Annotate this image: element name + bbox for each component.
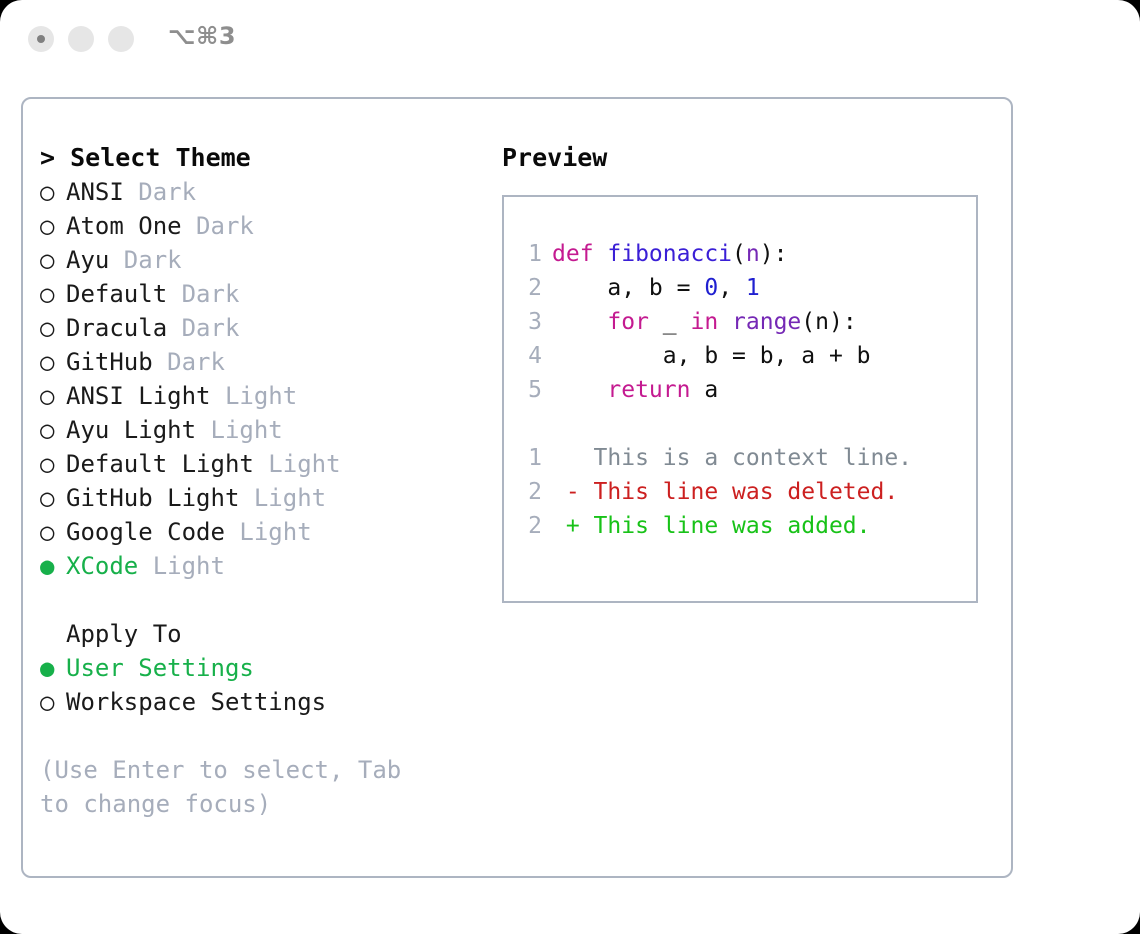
code-token: range xyxy=(732,309,801,335)
code-token: fibonacci xyxy=(607,241,732,267)
theme-option-dracula[interactable]: ○Dracula Dark xyxy=(40,311,480,345)
panel-columns: > Select Theme ○ANSI Dark○Atom One Dark○… xyxy=(23,99,1011,876)
theme-option-label: Default xyxy=(66,280,182,308)
code-token: (n): xyxy=(801,309,856,335)
radio-unselected-icon[interactable]: ○ xyxy=(40,379,66,413)
theme-option-default-light[interactable]: ○Default Light Light xyxy=(40,447,480,481)
code-token: a, b = b, a + b xyxy=(552,343,871,369)
theme-option-label: ANSI Light xyxy=(66,382,225,410)
theme-option-kind: Dark xyxy=(182,280,240,308)
radio-unselected-icon[interactable]: ○ xyxy=(40,209,66,243)
line-number: 1 xyxy=(516,441,542,475)
theme-option-github[interactable]: ○GitHub Dark xyxy=(40,345,480,379)
line-number: 5 xyxy=(516,373,542,407)
app-window: ⌥⌘3 > Select Theme ○ANSI Dark○Atom One D… xyxy=(0,0,1140,934)
theme-option-ayu-light[interactable]: ○Ayu Light Light xyxy=(40,413,480,447)
radio-unselected-icon[interactable]: ○ xyxy=(40,515,66,549)
code-token: 1 xyxy=(746,275,760,301)
code-token: return xyxy=(607,377,690,403)
theme-option-kind: Dark xyxy=(138,178,196,206)
traffic-light-3[interactable] xyxy=(108,26,134,52)
code-token: ): xyxy=(760,241,788,267)
theme-selector-column: > Select Theme ○ANSI Dark○Atom One Dark○… xyxy=(40,141,480,821)
code-line: 2 a, b = 0, 1 xyxy=(516,271,970,305)
theme-option-label: ANSI xyxy=(66,178,138,206)
diff-line-text: + This line was added. xyxy=(552,513,871,539)
code-token: _ xyxy=(649,309,691,335)
code-token xyxy=(718,309,732,335)
line-number: 4 xyxy=(516,339,542,373)
radio-selected-icon[interactable]: ● xyxy=(40,651,66,685)
theme-option-ansi[interactable]: ○ANSI Dark xyxy=(40,175,480,209)
select-theme-heading: > Select Theme xyxy=(40,141,480,175)
theme-option-label: XCode xyxy=(66,552,153,580)
preview-box: 1def fibonacci(n):2 a, b = 0, 13 for _ i… xyxy=(502,195,978,603)
code-token: a xyxy=(690,377,718,403)
radio-unselected-icon[interactable]: ○ xyxy=(40,243,66,277)
line-number: 2 xyxy=(516,509,542,543)
theme-option-kind: Dark xyxy=(167,348,225,376)
theme-option-label: Ayu xyxy=(66,246,124,274)
line-number: 2 xyxy=(516,475,542,509)
diff-line: 1 This is a context line. xyxy=(516,441,970,475)
theme-option-label: Ayu Light xyxy=(66,416,211,444)
apply-to-heading: Apply To xyxy=(40,617,480,651)
preview-heading: Preview xyxy=(502,141,1002,175)
code-sample: 1def fibonacci(n):2 a, b = 0, 13 for _ i… xyxy=(516,237,970,407)
theme-option-kind: Light xyxy=(239,518,311,546)
traffic-light-buttons xyxy=(28,26,134,52)
apply-to-option-label: User Settings xyxy=(66,654,254,682)
code-token: for xyxy=(607,309,649,335)
code-line: 1def fibonacci(n): xyxy=(516,237,970,271)
theme-option-xcode[interactable]: ●XCode Light xyxy=(40,549,480,583)
diff-line: 2 + This line was added. xyxy=(516,509,970,543)
radio-unselected-icon[interactable]: ○ xyxy=(40,413,66,447)
radio-unselected-icon[interactable]: ○ xyxy=(40,277,66,311)
traffic-light-1[interactable] xyxy=(28,26,54,52)
apply-to-option-label: Workspace Settings xyxy=(66,688,326,716)
theme-option-kind: Light xyxy=(225,382,297,410)
theme-option-label: Dracula xyxy=(66,314,182,342)
radio-unselected-icon[interactable]: ○ xyxy=(40,447,66,481)
theme-option-default[interactable]: ○Default Dark xyxy=(40,277,480,311)
line-number: 1 xyxy=(516,237,542,271)
code-token: , xyxy=(718,275,746,301)
line-number: 2 xyxy=(516,271,542,305)
keyboard-shortcut-label: ⌥⌘3 xyxy=(168,22,236,50)
theme-option-kind: Dark xyxy=(196,212,254,240)
apply-to-option-workspace-settings[interactable]: ○Workspace Settings xyxy=(40,685,480,719)
code-preview: 1def fibonacci(n):2 a, b = 0, 13 for _ i… xyxy=(516,237,970,543)
spacer xyxy=(40,583,480,617)
code-token xyxy=(552,309,607,335)
traffic-light-2[interactable] xyxy=(68,26,94,52)
theme-option-label: GitHub xyxy=(66,348,167,376)
main-panel: > Select Theme ○ANSI Dark○Atom One Dark○… xyxy=(21,97,1013,878)
theme-option-kind: Dark xyxy=(182,314,240,342)
theme-option-ayu[interactable]: ○Ayu Dark xyxy=(40,243,480,277)
code-line: 3 for _ in range(n): xyxy=(516,305,970,339)
theme-option-label: Google Code xyxy=(66,518,239,546)
code-token xyxy=(552,377,607,403)
line-number: 3 xyxy=(516,305,542,339)
radio-unselected-icon[interactable]: ○ xyxy=(40,685,66,719)
theme-option-kind: Dark xyxy=(124,246,182,274)
code-token: 0 xyxy=(704,275,718,301)
radio-selected-icon[interactable]: ● xyxy=(40,549,66,583)
radio-unselected-icon[interactable]: ○ xyxy=(40,311,66,345)
keyboard-hint-text: (Use Enter to select, Tab to change focu… xyxy=(40,753,440,821)
theme-list[interactable]: ○ANSI Dark○Atom One Dark○Ayu Dark○Defaul… xyxy=(40,175,480,583)
theme-option-kind: Light xyxy=(254,484,326,512)
theme-option-github-light[interactable]: ○GitHub Light Light xyxy=(40,481,480,515)
theme-option-atom-one[interactable]: ○Atom One Dark xyxy=(40,209,480,243)
radio-unselected-icon[interactable]: ○ xyxy=(40,481,66,515)
theme-option-kind: Light xyxy=(153,552,225,580)
code-token: n xyxy=(746,241,760,267)
title-bar: ⌥⌘3 xyxy=(0,0,1140,78)
apply-to-option-user-settings[interactable]: ●User Settings xyxy=(40,651,480,685)
code-token: in xyxy=(690,309,718,335)
theme-option-label: Atom One xyxy=(66,212,196,240)
preview-column: Preview 1def fibonacci(n):2 a, b = 0, 13… xyxy=(502,141,1002,603)
radio-unselected-icon[interactable]: ○ xyxy=(40,175,66,209)
code-token: def xyxy=(552,241,607,267)
diff-line-text: This is a context line. xyxy=(552,445,912,471)
code-token: ( xyxy=(732,241,746,267)
theme-option-label: Default Light xyxy=(66,450,268,478)
diff-line-text: - This line was deleted. xyxy=(552,479,898,505)
code-diff-spacer xyxy=(516,407,970,441)
theme-option-kind: Light xyxy=(268,450,340,478)
theme-option-label: GitHub Light xyxy=(66,484,254,512)
code-token: a, b = xyxy=(552,275,704,301)
diff-sample: 1 This is a context line.2 - This line w… xyxy=(516,441,970,543)
theme-option-ansi-light[interactable]: ○ANSI Light Light xyxy=(40,379,480,413)
code-line: 5 return a xyxy=(516,373,970,407)
radio-unselected-icon[interactable]: ○ xyxy=(40,345,66,379)
traffic-light-1-dot xyxy=(37,35,45,43)
apply-to-options[interactable]: ●User Settings○Workspace Settings xyxy=(40,651,480,719)
theme-option-google-code[interactable]: ○Google Code Light xyxy=(40,515,480,549)
code-line: 4 a, b = b, a + b xyxy=(516,339,970,373)
theme-option-kind: Light xyxy=(211,416,283,444)
diff-line: 2 - This line was deleted. xyxy=(516,475,970,509)
